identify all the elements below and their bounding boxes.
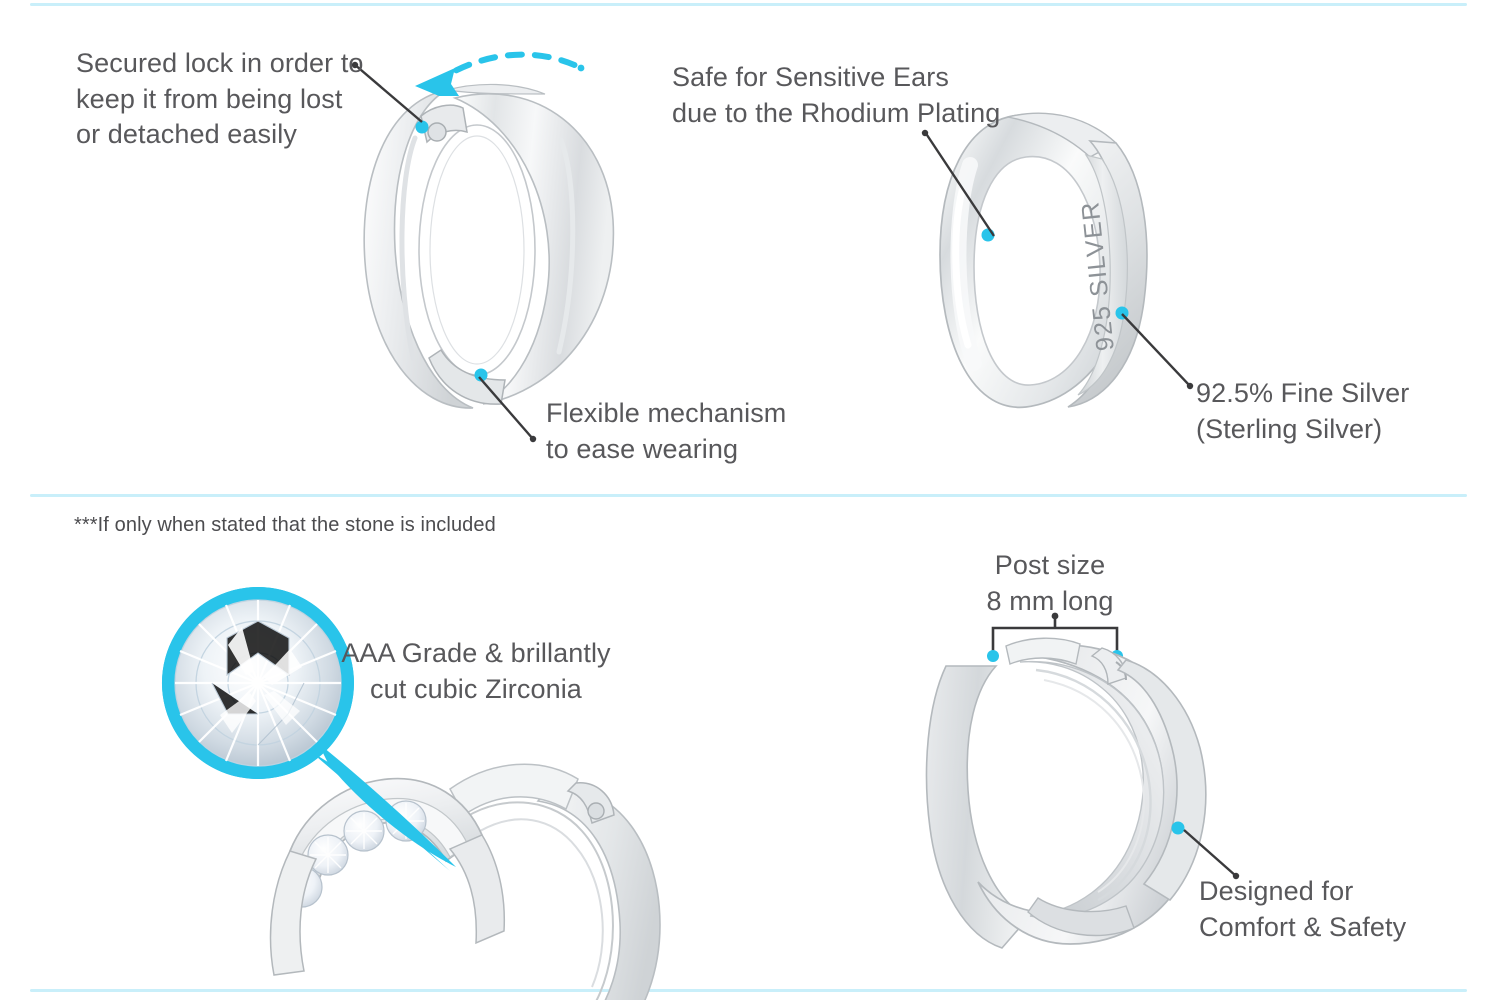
leader-line-flexible-mechanism [475, 375, 555, 455]
callout-post-size: Post size 8 mm long [930, 548, 1170, 619]
divider-middle [30, 494, 1467, 497]
callout-rhodium-plating: Safe for Sensitive Ears due to the Rhodi… [672, 60, 1032, 131]
disclaimer-stone-included: ***If only when stated that the stone is… [74, 512, 674, 538]
earring-illustration-cubic-zirconia [150, 575, 670, 945]
callout-comfort-safety: Designed for Comfort & Safety [1199, 874, 1497, 945]
divider-bottom [30, 989, 1467, 992]
leader-line-rhodium-plating [920, 128, 1010, 243]
callout-flexible-mechanism: Flexible mechanism to ease wearing [546, 396, 846, 467]
callout-cubic-zirconia: AAA Grade & brillantly cut cubic Zirconi… [316, 636, 636, 707]
arc-end-dot-icon [578, 65, 585, 72]
callout-fine-silver: 92.5% Fine Silver (Sterling Silver) [1196, 376, 1496, 447]
leader-line-fine-silver [1118, 310, 1208, 400]
callout-secured-lock: Secured lock in order to keep it from be… [76, 46, 406, 153]
hinge-motion-arc-icon [433, 55, 581, 84]
divider-top [30, 3, 1467, 6]
infographic-canvas: Secured lock in order to keep it from be… [0, 0, 1497, 1000]
